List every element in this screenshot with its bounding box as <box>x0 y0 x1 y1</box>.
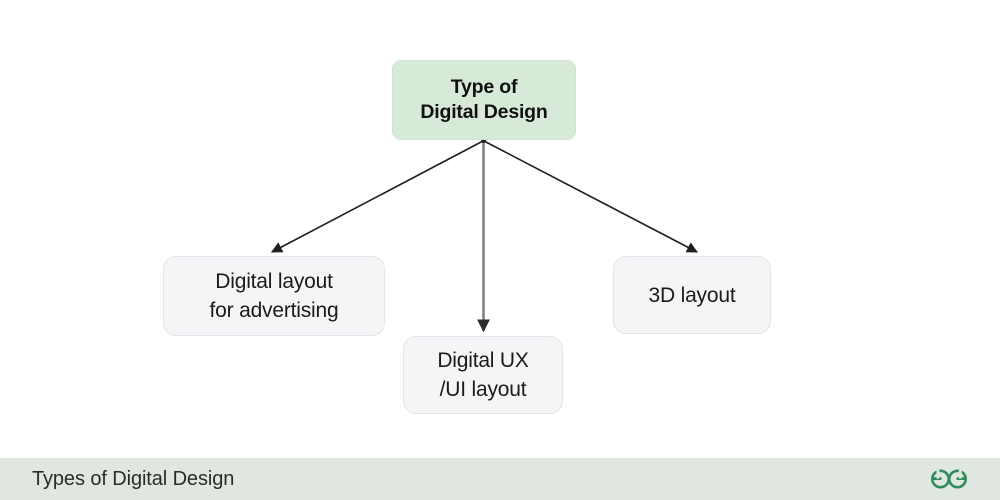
footer-caption: Types of Digital Design <box>32 468 234 491</box>
edge-root-to-3d <box>484 141 697 252</box>
node-3d-layout: 3D layout <box>613 256 771 334</box>
footer-bar: Types of Digital Design <box>0 458 1000 500</box>
node-label: 3D layout <box>649 281 736 310</box>
node-type-of-digital-design: Type of Digital Design <box>392 60 576 140</box>
node-label: Digital UX /UI layout <box>437 346 528 404</box>
geeksforgeeks-logo <box>928 467 970 491</box>
geeksforgeeks-logo-icon <box>928 467 970 491</box>
diagram-page: Type of Digital Design Digital layout fo… <box>0 0 1000 500</box>
node-digital-layout-for-advertising: Digital layout for advertising <box>163 256 385 336</box>
edge-root-to-ads <box>272 141 483 252</box>
diagram-canvas: Type of Digital Design Digital layout fo… <box>0 0 1000 458</box>
node-label: Digital layout for advertising <box>210 267 339 325</box>
node-digital-ux-ui-layout: Digital UX /UI layout <box>403 336 563 414</box>
node-label: Type of Digital Design <box>420 75 547 125</box>
